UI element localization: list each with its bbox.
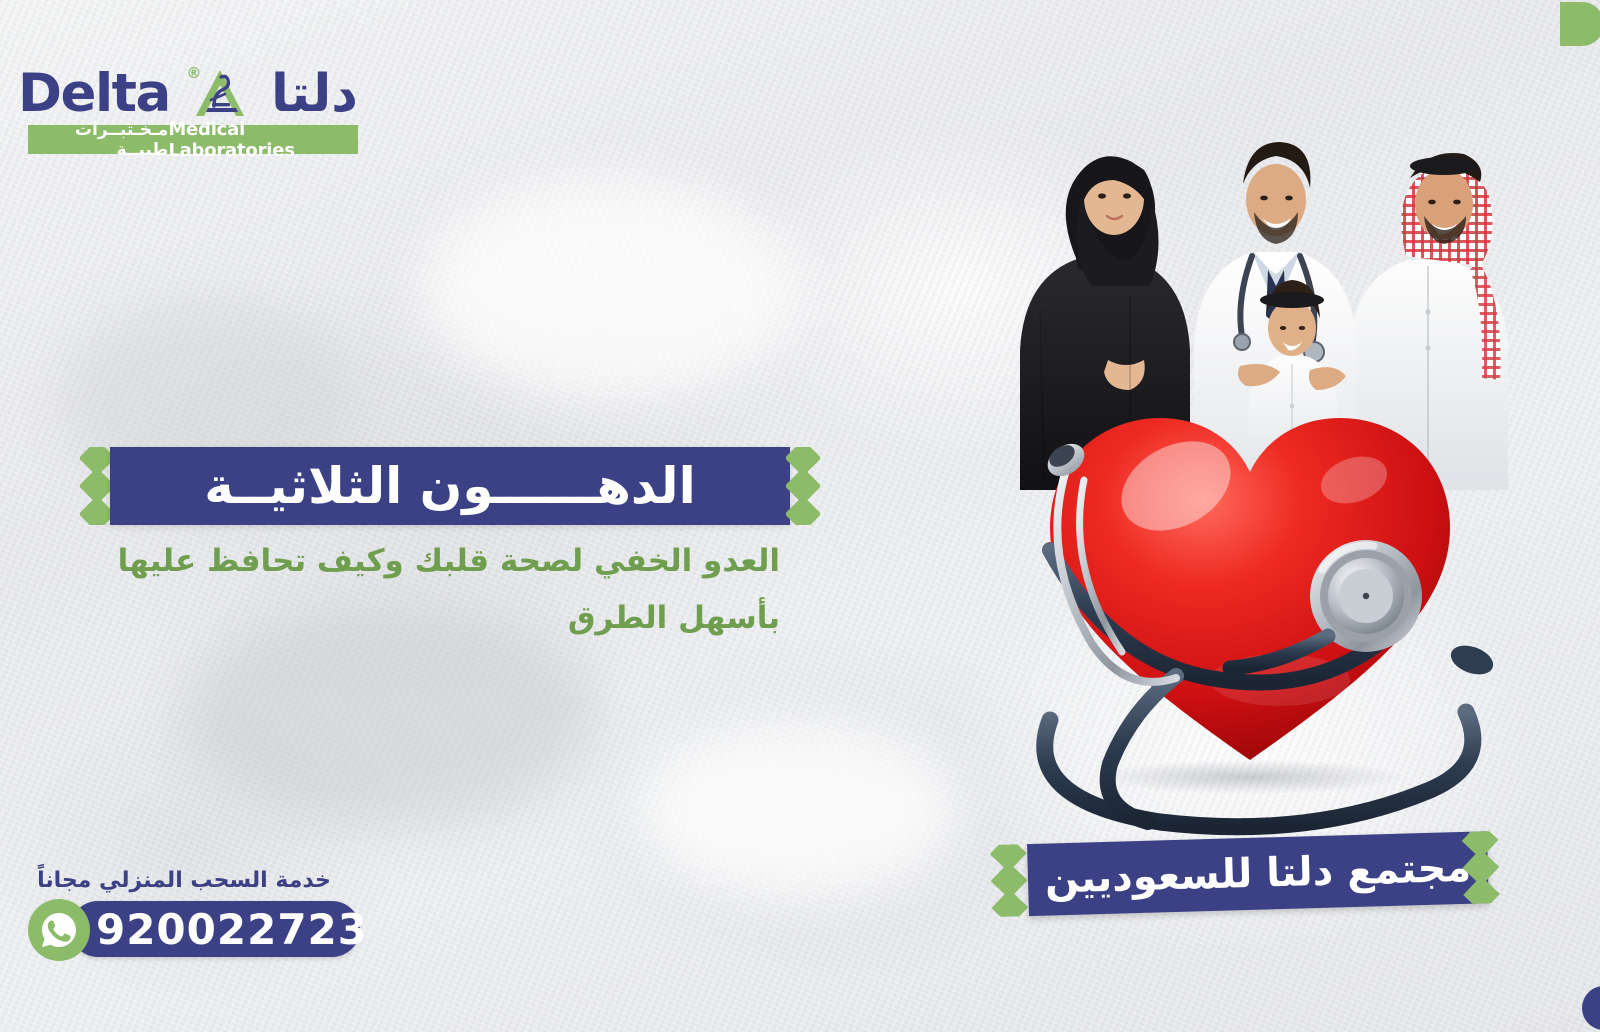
- green-diamond-edge-icon: [786, 447, 820, 525]
- logo-arabic-name: دلتا: [271, 68, 358, 120]
- green-diamond-edge-icon: [80, 447, 114, 525]
- logo-tagline-ar: مـخـتبــرات طبيــة: [40, 120, 168, 160]
- bg-smudge: [420, 180, 800, 400]
- whatsapp-icon[interactable]: [28, 899, 90, 961]
- bottom-decorative-border: [0, 970, 1600, 1032]
- bg-smudge: [640, 720, 960, 900]
- contact-block: خدمة السحب المنزلي مجاناً 920022723: [28, 868, 358, 961]
- logo-latin-name: Delta: [18, 67, 170, 120]
- microscope-icon: [202, 70, 242, 114]
- hero-artwork: [980, 60, 1540, 940]
- bg-smudge: [180, 600, 600, 830]
- whatsapp-glyph: [39, 910, 79, 950]
- poster-canvas: Delta ® دلتا Medical Laboratories مـخـتب…: [0, 0, 1600, 1032]
- community-banner: مجتمع دلتا للسعوديين: [989, 831, 1503, 921]
- green-diamond-edge-icon: [989, 844, 1031, 917]
- logo-tagline-bar: Medical Laboratories مـخـتبــرات طبيــة: [28, 125, 358, 154]
- page-title: الدهــــــون الثلاثيــة: [204, 461, 695, 511]
- top-decorative-border: [0, 0, 1600, 48]
- community-banner-text: مجتمع دلتا للسعوديين: [1044, 848, 1471, 900]
- brand-logo[interactable]: Delta ® دلتا Medical Laboratories مـخـتب…: [18, 58, 358, 154]
- delta-triangle-microscope-icon: ®: [188, 62, 252, 120]
- phone-number: 920022723: [62, 905, 368, 954]
- heart-with-stethoscope: [980, 360, 1540, 860]
- service-label: خدمة السحب المنزلي مجاناً: [28, 868, 358, 893]
- headline-subtitle-line-1: العدو الخفي لصحة قلبك وكيف تحافظ عليها: [118, 543, 780, 579]
- headline-subtitle-line-2: بأسهل الطرق: [568, 600, 780, 636]
- green-diamond-edge-icon: [1461, 831, 1503, 904]
- headline-banner: الدهــــــون الثلاثيــة: [80, 447, 820, 531]
- phone-number-pill[interactable]: 920022723: [70, 901, 360, 957]
- logo-tagline-en: Medical Laboratories: [168, 119, 346, 161]
